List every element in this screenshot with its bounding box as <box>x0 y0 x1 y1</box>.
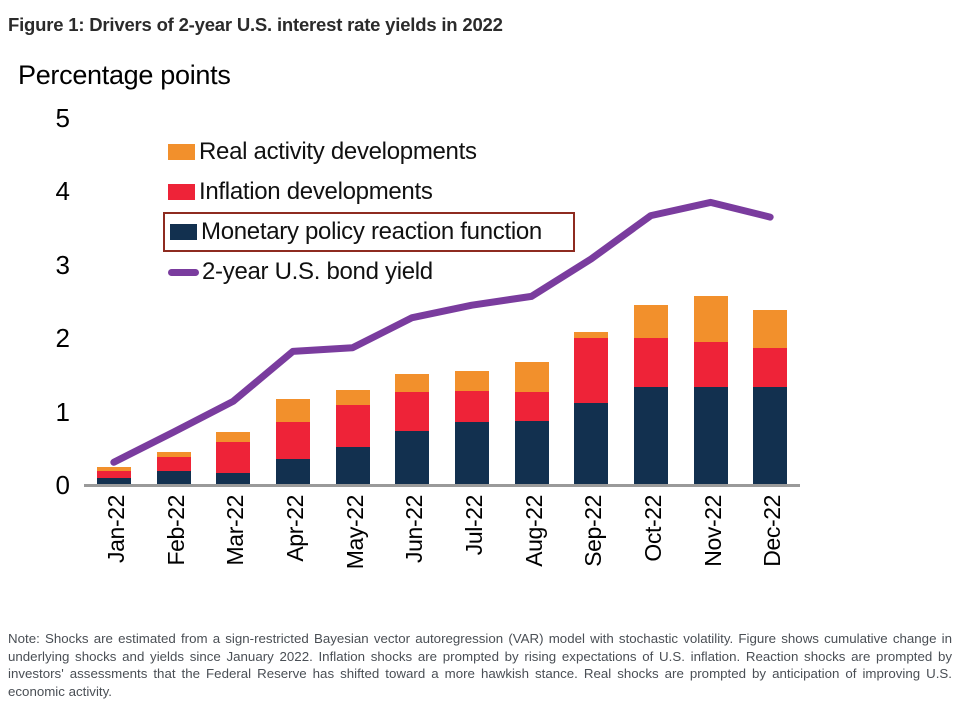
y-tick-label: 4 <box>56 178 70 204</box>
x-axis-tick-label: Mar-22 <box>222 495 249 565</box>
bar-segment[interactable] <box>276 399 310 422</box>
legend-item-0[interactable]: Real activity developments <box>160 132 575 172</box>
x-axis-tick-label: Feb-22 <box>163 495 190 565</box>
legend-item-3[interactable]: 2-year U.S. bond yield <box>160 252 575 292</box>
chart-container: Percentage points 012345 Real activity d… <box>0 52 960 597</box>
bar-segment[interactable] <box>216 432 250 442</box>
stacked-bar[interactable] <box>574 332 608 485</box>
bar-segment[interactable] <box>216 442 250 473</box>
stacked-bar[interactable] <box>634 305 668 485</box>
stacked-bar[interactable] <box>216 432 250 485</box>
bar-slot-jan-22[interactable] <box>84 118 144 485</box>
legend-label: Real activity developments <box>199 138 477 166</box>
stacked-bar[interactable] <box>336 390 370 485</box>
x-axis-tick-label: Dec-22 <box>759 495 786 567</box>
y-axis-title: Percentage points <box>18 60 231 91</box>
bar-segment[interactable] <box>694 296 728 342</box>
x-label-slot: Mar-22 <box>203 489 263 599</box>
figure-note: Note: Shocks are estimated from a sign-r… <box>8 630 952 700</box>
x-axis-line <box>84 484 800 487</box>
y-tick-label: 0 <box>56 472 70 498</box>
bar-segment[interactable] <box>515 392 549 421</box>
stacked-bar[interactable] <box>157 452 191 485</box>
stacked-bar[interactable] <box>515 362 549 485</box>
legend-item-1[interactable]: Inflation developments <box>160 172 575 212</box>
bar-segment[interactable] <box>157 457 191 471</box>
x-label-slot: Aug-22 <box>502 489 562 599</box>
bar-segment[interactable] <box>634 387 668 485</box>
x-axis-tick-label: May-22 <box>342 495 369 569</box>
x-label-slot: Dec-22 <box>740 489 800 599</box>
y-tick-label: 3 <box>56 252 70 278</box>
bar-segment[interactable] <box>574 403 608 485</box>
stacked-bar[interactable] <box>97 467 131 485</box>
legend-label: Inflation developments <box>199 178 433 206</box>
bar-slot-nov-22[interactable] <box>681 118 741 485</box>
bar-segment[interactable] <box>395 374 429 392</box>
x-axis-tick-label: Nov-22 <box>700 495 727 567</box>
bar-segment[interactable] <box>276 422 310 459</box>
x-axis-tick-label: Jan-22 <box>103 495 130 563</box>
x-label-slot: Apr-22 <box>263 489 323 599</box>
bar-segment[interactable] <box>336 405 370 447</box>
bar-segment[interactable] <box>634 305 668 338</box>
bar-segment[interactable] <box>276 459 310 485</box>
x-label-slot: Jun-22 <box>382 489 442 599</box>
x-label-slot: Jan-22 <box>84 489 144 599</box>
legend-label: 2-year U.S. bond yield <box>202 258 433 286</box>
bar-slot-oct-22[interactable] <box>621 118 681 485</box>
bar-slot-dec-22[interactable] <box>740 118 800 485</box>
bar-segment[interactable] <box>395 392 429 432</box>
chart-legend: Real activity developmentsInflation deve… <box>160 132 575 292</box>
stacked-bar[interactable] <box>395 374 429 485</box>
x-label-slot: Nov-22 <box>681 489 741 599</box>
stacked-bar[interactable] <box>753 310 787 485</box>
x-axis-tick-label: Sep-22 <box>580 495 607 567</box>
bar-segment[interactable] <box>336 447 370 485</box>
x-axis-tick-label: Jun-22 <box>401 495 428 563</box>
legend-item-2[interactable]: Monetary policy reaction function <box>163 212 575 252</box>
x-axis-tick-label: Apr-22 <box>282 495 309 562</box>
bar-segment[interactable] <box>97 471 131 478</box>
bar-segment[interactable] <box>336 390 370 405</box>
x-label-slot: Sep-22 <box>561 489 621 599</box>
bar-segment[interactable] <box>515 421 549 485</box>
bar-segment[interactable] <box>753 348 787 388</box>
bar-segment[interactable] <box>694 387 728 485</box>
x-axis-tick-label: Jul-22 <box>461 495 488 555</box>
bar-segment[interactable] <box>634 338 668 387</box>
bar-segment[interactable] <box>157 471 191 485</box>
bar-segment[interactable] <box>694 342 728 387</box>
legend-label: Monetary policy reaction function <box>201 218 542 246</box>
legend-square-icon <box>168 184 195 200</box>
x-axis-tick-label: Oct-22 <box>640 495 667 562</box>
y-tick-label: 5 <box>56 105 70 131</box>
legend-square-icon <box>170 224 197 240</box>
stacked-bar[interactable] <box>694 296 728 485</box>
x-axis-labels: Jan-22Feb-22Mar-22Apr-22May-22Jun-22Jul-… <box>84 489 800 599</box>
y-tick-label: 1 <box>56 399 70 425</box>
bar-segment[interactable] <box>515 362 549 391</box>
bar-segment[interactable] <box>753 387 787 485</box>
bar-segment[interactable] <box>395 431 429 485</box>
x-axis-tick-label: Aug-22 <box>521 495 548 567</box>
stacked-bar[interactable] <box>276 399 310 485</box>
bar-segment[interactable] <box>455 422 489 485</box>
x-label-slot: Jul-22 <box>442 489 502 599</box>
bar-segment[interactable] <box>455 371 489 391</box>
legend-square-icon <box>168 144 195 160</box>
bar-segment[interactable] <box>574 338 608 403</box>
bar-segment[interactable] <box>455 391 489 422</box>
legend-line-icon <box>168 269 199 276</box>
x-label-slot: Oct-22 <box>621 489 681 599</box>
bar-segment[interactable] <box>753 310 787 348</box>
x-label-slot: May-22 <box>323 489 383 599</box>
figure-title: Figure 1: Drivers of 2-year U.S. interes… <box>8 14 503 36</box>
y-tick-label: 2 <box>56 325 70 351</box>
x-label-slot: Feb-22 <box>144 489 204 599</box>
stacked-bar[interactable] <box>455 371 489 485</box>
